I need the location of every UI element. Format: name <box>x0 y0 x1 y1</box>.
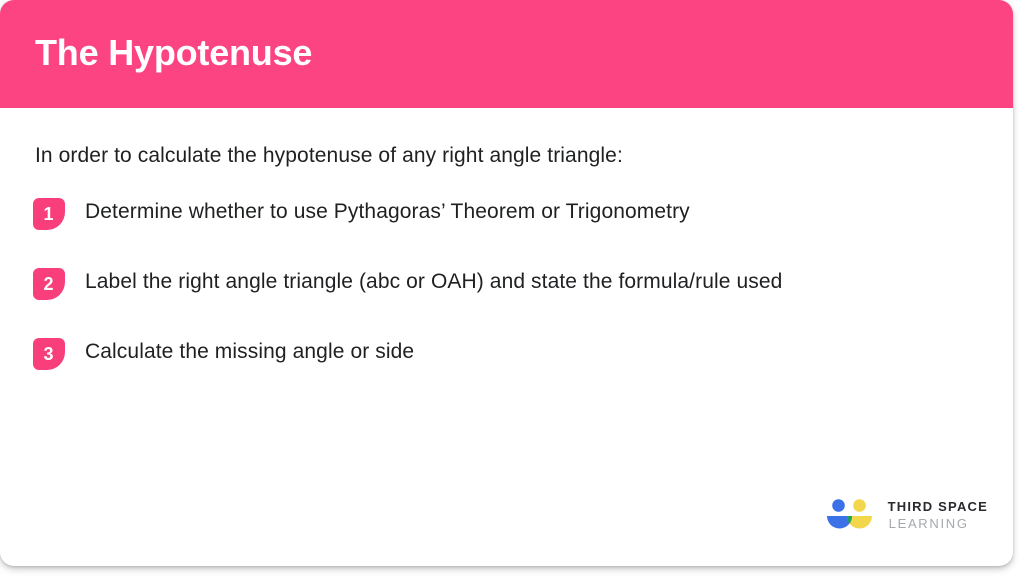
lesson-card: The Hypotenuse In order to calculate the… <box>0 0 1013 566</box>
page-title: The Hypotenuse <box>35 29 312 77</box>
step-number-badge: 2 <box>33 268 65 300</box>
list-item: 2 Label the right angle triangle (abc or… <box>33 266 983 336</box>
card-header: The Hypotenuse <box>0 0 1013 108</box>
brand-name-line1: THIRD SPACE <box>888 500 988 513</box>
brand-wordmark: THIRD SPACE LEARNING <box>888 500 988 530</box>
slide-root: The Hypotenuse In order to calculate the… <box>0 0 1024 582</box>
step-text: Label the right angle triangle (abc or O… <box>85 266 983 298</box>
brand-logo: THIRD SPACE LEARNING <box>824 498 988 532</box>
card-body: In order to calculate the hypotenuse of … <box>0 108 1013 566</box>
step-number-badge: 3 <box>33 338 65 370</box>
list-item: 3 Calculate the missing angle or side <box>33 336 983 406</box>
step-text: Determine whether to use Pythagoras’ The… <box>85 196 983 228</box>
step-text: Calculate the missing angle or side <box>85 336 983 368</box>
step-number-badge: 1 <box>33 198 65 230</box>
third-space-learning-mark-icon <box>824 498 876 532</box>
brand-name-line2: LEARNING <box>889 517 969 530</box>
list-item: 1 Determine whether to use Pythagoras’ T… <box>33 196 983 266</box>
steps-list: 1 Determine whether to use Pythagoras’ T… <box>33 196 983 406</box>
intro-text: In order to calculate the hypotenuse of … <box>35 141 623 171</box>
